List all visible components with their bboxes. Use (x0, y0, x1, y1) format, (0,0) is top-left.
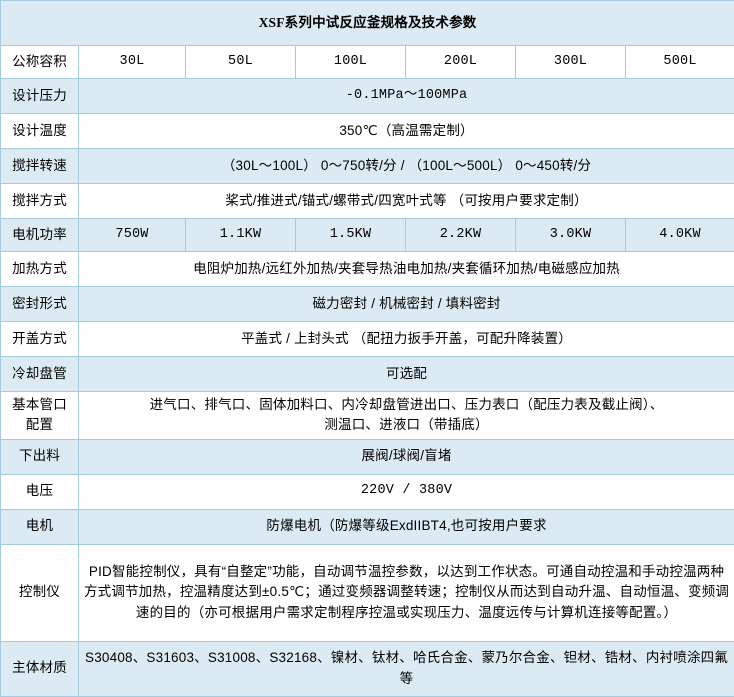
motor-power-value-0: 750W (79, 219, 186, 252)
capacity-value-5: 500L (626, 46, 734, 79)
heating-value: 电阻炉加热/远红外加热/夹套导热油电加热/夹套循环加热/电磁感应加热 (79, 252, 734, 287)
ports-value-line2: 测温口、进液口（带插底） (83, 415, 730, 435)
row-label-lid: 开盖方式 (1, 322, 79, 357)
row-label-discharge: 下出料 (1, 439, 79, 474)
capacity-value-1: 50L (186, 46, 296, 79)
row-label-cooling-coil: 冷却盘管 (1, 357, 79, 392)
capacity-value-3: 200L (406, 46, 516, 79)
table-row-lid: 开盖方式 平盖式 / 上封头式 （配扭力扳手开盖，可配升降装置） (1, 322, 734, 357)
table-row-design-pressure: 设计压力 -0.1MPa～100MPa (1, 79, 734, 114)
ports-value-line1: 进气口、排气口、固体加料口、内冷却盘管进出口、压力表口（配压力表及截止阀）、 (83, 395, 730, 415)
table-row-seal: 密封形式 磁力密封 / 机械密封 / 填料密封 (1, 287, 734, 322)
capacity-value-2: 100L (296, 46, 406, 79)
row-label-ports-line2: 配置 (5, 415, 74, 435)
ports-value: 进气口、排气口、固体加料口、内冷却盘管进出口、压力表口（配压力表及截止阀）、 测… (79, 392, 734, 440)
page-title: XSF系列中试反应釜规格及技术参数 (1, 1, 734, 46)
table-row-heating: 加热方式 电阻炉加热/远红外加热/夹套导热油电加热/夹套循环加热/电磁感应加热 (1, 252, 734, 287)
motor-power-value-1: 1.1KW (186, 219, 296, 252)
table-row-motor-power: 电机功率 750W 1.1KW 1.5KW 2.2KW 3.0KW 4.0KW (1, 219, 734, 252)
table-row-cooling-coil: 冷却盘管 可选配 (1, 357, 734, 392)
row-label-heating: 加热方式 (1, 252, 79, 287)
row-label-voltage: 电压 (1, 474, 79, 509)
row-label-stir-speed: 搅拌转速 (1, 149, 79, 184)
motor-power-value-5: 4.0KW (626, 219, 734, 252)
seal-value: 磁力密封 / 机械密封 / 填料密封 (79, 287, 734, 322)
row-label-ports: 基本管口 配置 (1, 392, 79, 440)
row-label-stir-type: 搅拌方式 (1, 184, 79, 219)
lid-value: 平盖式 / 上封头式 （配扭力扳手开盖，可配升降装置） (79, 322, 734, 357)
motor-power-value-2: 1.5KW (296, 219, 406, 252)
row-label-capacity: 公称容积 (1, 46, 79, 79)
design-temperature-value: 350℃（高温需定制） (79, 114, 734, 149)
row-label-motor-power: 电机功率 (1, 219, 79, 252)
stir-speed-value: （30L～100L） 0～750转/分 / （100L～500L） 0～450转… (79, 149, 734, 184)
motor-power-value-3: 2.2KW (406, 219, 516, 252)
table-row-title: XSF系列中试反应釜规格及技术参数 (1, 1, 734, 46)
stir-type-value: 桨式/推进式/锚式/螺带式/四宽叶式等 （可按用户要求定制） (79, 184, 734, 219)
row-label-controller: 控制仪 (1, 544, 79, 641)
discharge-value: 展阀/球阀/盲堵 (79, 439, 734, 474)
row-label-ports-line1: 基本管口 (5, 395, 74, 415)
table-row-motor: 电机 防爆电机（防爆等级ExdIIBT4,也可按用户要求 (1, 509, 734, 544)
motor-power-value-4: 3.0KW (516, 219, 626, 252)
controller-value: PID智能控制仪，具有“自整定”功能，自动调节温控参数，以达到工作状态。可通自动… (79, 544, 734, 641)
row-label-material: 主体材质 (1, 641, 79, 696)
material-value: S30408、S31603、S31008、S32168、镍材、钛材、哈氏合金、蒙… (79, 641, 734, 696)
spec-table: XSF系列中试反应釜规格及技术参数 公称容积 30L 50L 100L 200L… (0, 0, 734, 697)
table-row-design-temperature: 设计温度 350℃（高温需定制） (1, 114, 734, 149)
design-pressure-value: -0.1MPa～100MPa (79, 79, 734, 114)
table-row-voltage: 电压 220V / 380V (1, 474, 734, 509)
table-row-stir-speed: 搅拌转速 （30L～100L） 0～750转/分 / （100L～500L） 0… (1, 149, 734, 184)
motor-value: 防爆电机（防爆等级ExdIIBT4,也可按用户要求 (79, 509, 734, 544)
voltage-value: 220V / 380V (79, 474, 734, 509)
capacity-value-4: 300L (516, 46, 626, 79)
table-row-controller: 控制仪 PID智能控制仪，具有“自整定”功能，自动调节温控参数，以达到工作状态。… (1, 544, 734, 641)
row-label-seal: 密封形式 (1, 287, 79, 322)
table-row-discharge: 下出料 展阀/球阀/盲堵 (1, 439, 734, 474)
cooling-coil-value: 可选配 (79, 357, 734, 392)
table-row-material: 主体材质 S30408、S31603、S31008、S32168、镍材、钛材、哈… (1, 641, 734, 696)
table-row-ports: 基本管口 配置 进气口、排气口、固体加料口、内冷却盘管进出口、压力表口（配压力表… (1, 392, 734, 440)
table-row-stir-type: 搅拌方式 桨式/推进式/锚式/螺带式/四宽叶式等 （可按用户要求定制） (1, 184, 734, 219)
row-label-motor: 电机 (1, 509, 79, 544)
row-label-design-temperature: 设计温度 (1, 114, 79, 149)
row-label-design-pressure: 设计压力 (1, 79, 79, 114)
capacity-value-0: 30L (79, 46, 186, 79)
table-row-capacity: 公称容积 30L 50L 100L 200L 300L 500L (1, 46, 734, 79)
